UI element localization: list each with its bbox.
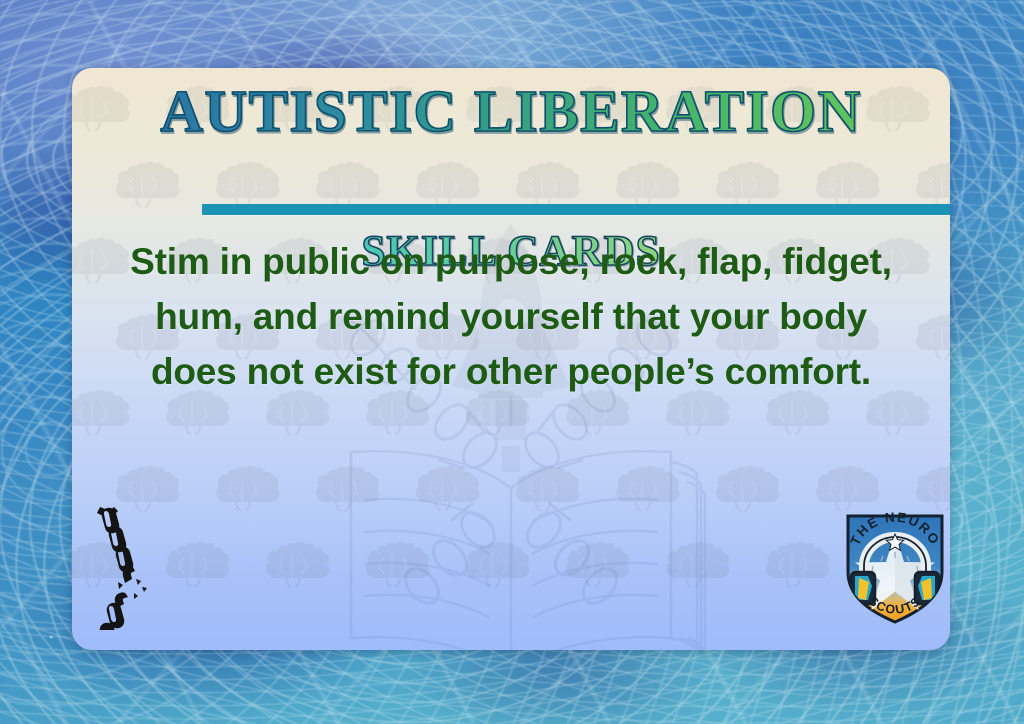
broken-chain-icon (90, 505, 162, 630)
skill-card-body-text: Stim in public on purpose, rock, flap, f… (120, 234, 902, 399)
skill-card: AUTISTIC LIBERATION SKILL CARDS Stim in … (72, 68, 950, 650)
page-title: AUTISTIC LIBERATION (72, 82, 950, 141)
title-underline-rule (202, 204, 950, 215)
poster-root: AUTISTIC LIBERATION SKILL CARDS Stim in … (0, 0, 1024, 724)
neuro-scouts-badge: THE NEURO SCOUTS (842, 506, 948, 624)
